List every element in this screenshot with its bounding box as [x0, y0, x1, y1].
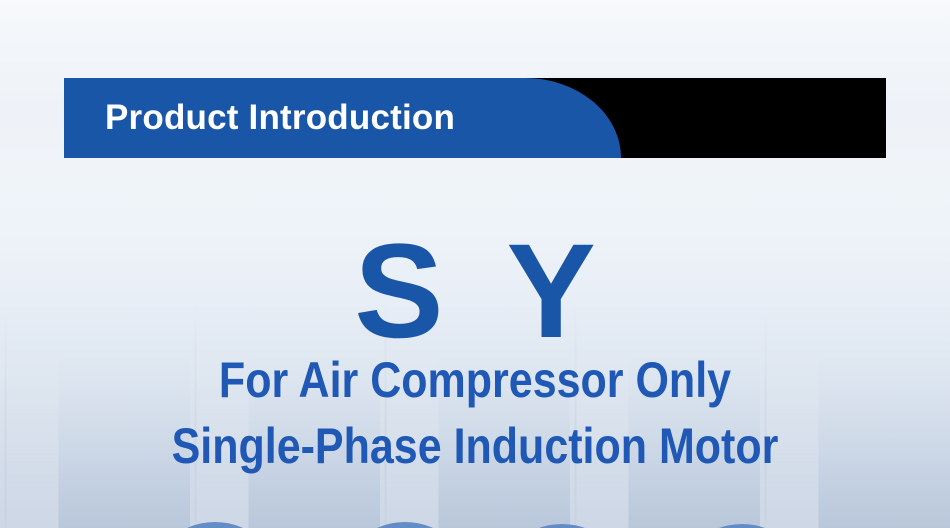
product-bubble-4: [674, 524, 810, 528]
product-subtitle-line-2: Single-Phase Induction Motor: [67, 421, 884, 471]
slide-canvas: Product Introduction S Y For Air Compres…: [0, 0, 950, 528]
product-bubble-2: [337, 522, 473, 528]
product-bubble-3: [494, 524, 630, 528]
section-header-ribbon: Product Introduction: [64, 78, 886, 158]
product-subtitle-line-1: For Air Compressor Only: [67, 355, 884, 405]
section-header-title: Product Introduction: [105, 78, 455, 158]
product-series-title: S Y: [0, 225, 950, 359]
product-bubble-1: [147, 522, 283, 528]
